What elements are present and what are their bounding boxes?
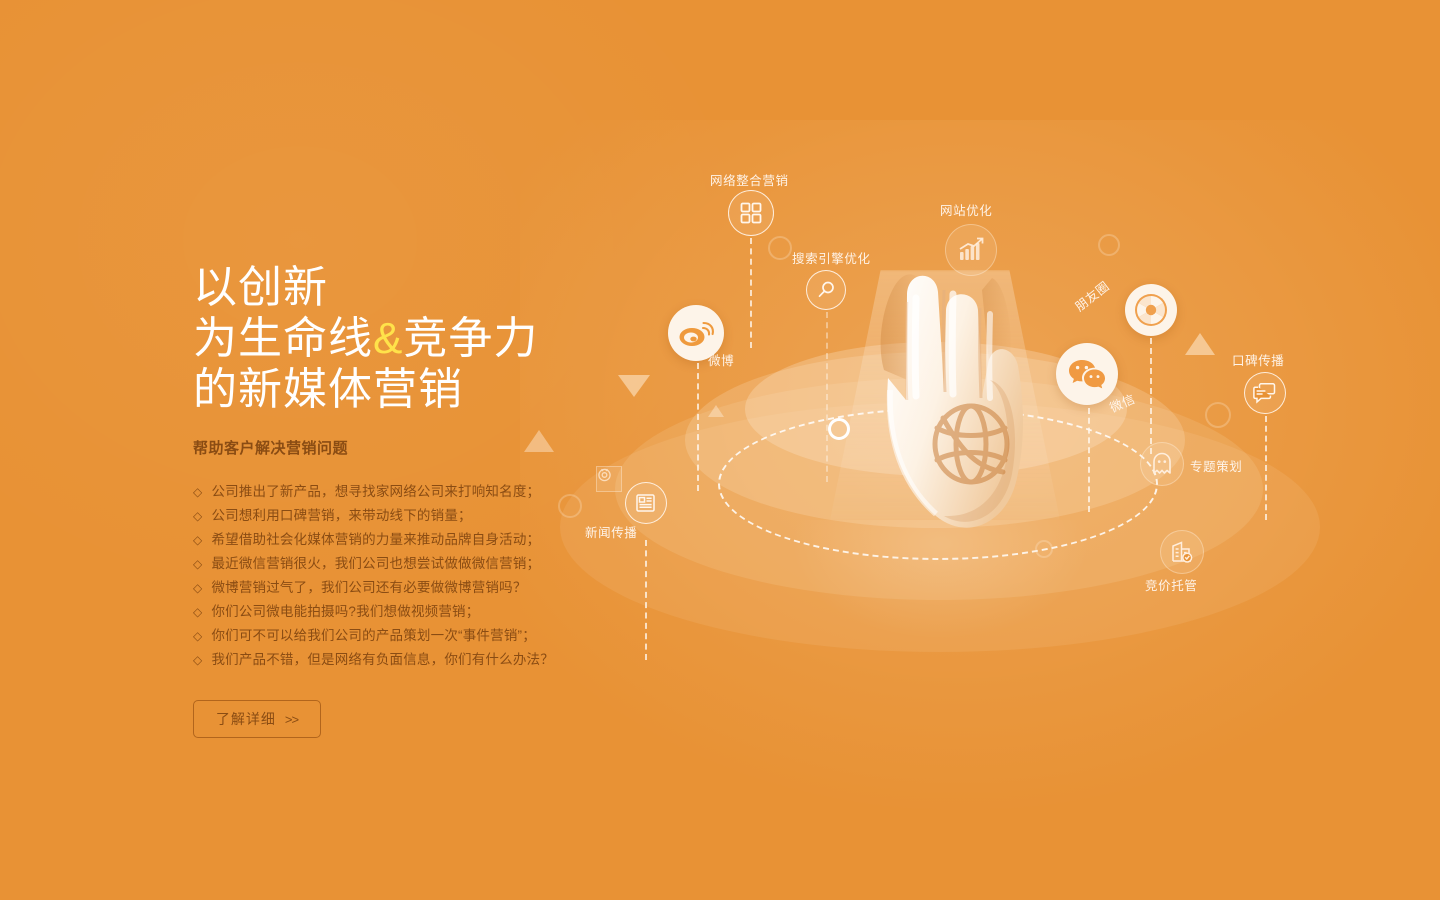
learn-more-label: 了解详细 xyxy=(216,709,276,729)
connector-line xyxy=(645,540,647,660)
connector-line xyxy=(1088,408,1090,512)
headline-ampersand: & xyxy=(373,314,403,363)
decor-triangle-down xyxy=(618,375,650,397)
diamond-bullet-icon: ◇ xyxy=(193,648,202,672)
node-label: 口碑传播 xyxy=(1232,350,1284,369)
diamond-bullet-icon: ◇ xyxy=(193,576,202,600)
decor-ring-highlight xyxy=(828,418,850,440)
decor-triangle-small xyxy=(708,405,724,417)
node-label: 网络整合营销 xyxy=(710,170,789,189)
decor-ring xyxy=(1035,540,1053,558)
decor-ring xyxy=(558,494,582,518)
list-item-label: 微博营销过气了，我们公司还有必要做微博营销吗？ xyxy=(211,576,526,600)
headline-line-2-part-a: 为生命线 xyxy=(193,314,373,363)
newspaper-icon[interactable] xyxy=(625,482,667,524)
connector-line xyxy=(826,312,828,482)
decor-triangle-up xyxy=(1185,333,1215,355)
node-label: 微博 xyxy=(708,350,734,369)
grid-squares-icon[interactable] xyxy=(728,190,774,236)
node-label: 网站优化 xyxy=(940,200,992,219)
list-item-label: 最近微信营销很火，我们公司也想尝试做做微信营销； xyxy=(211,552,540,576)
node-label: 搜索引擎优化 xyxy=(792,248,871,267)
marketing-ecosystem-illustration: 网络整合营销 搜索引擎优化 xyxy=(540,120,1360,740)
node-label: 新闻传播 xyxy=(585,522,637,541)
diamond-bullet-icon: ◇ xyxy=(193,504,202,528)
list-item-label: 公司推出了新产品，想寻找家网络公司来打响知名度； xyxy=(211,480,540,504)
magnifier-icon[interactable] xyxy=(806,270,846,310)
connector-line xyxy=(1265,416,1267,520)
node-label: 竞价托管 xyxy=(1145,575,1197,594)
connector-line xyxy=(697,363,699,491)
headline-line-2-part-b: 竞争力 xyxy=(403,314,538,363)
wechat-icon[interactable] xyxy=(1056,343,1118,405)
node-label: 朋友圈 xyxy=(1070,276,1113,315)
aperture-icon[interactable] xyxy=(1125,284,1177,336)
list-item-label: 我们产品不错，但是网络有负面信息，你们有什么办法？ xyxy=(211,648,554,672)
connector-line xyxy=(750,238,752,348)
target-icon xyxy=(596,466,622,492)
chat-bubbles-icon[interactable] xyxy=(1244,372,1286,414)
ghost-mascot-icon[interactable] xyxy=(1140,442,1184,486)
chevron-right-icon: >> xyxy=(285,712,298,727)
decor-ring xyxy=(1098,234,1120,256)
learn-more-button[interactable]: 了解详细 >> xyxy=(193,700,321,738)
hero-banner: 以创新 为生命线&竞争力 的新媒体营销 帮助客户解决营销问题 ◇公司推出了新产品… xyxy=(0,0,1440,900)
node-label: 专题策划 xyxy=(1190,456,1242,475)
diamond-bullet-icon: ◇ xyxy=(193,552,202,576)
diamond-bullet-icon: ◇ xyxy=(193,480,202,504)
bid-chart-icon[interactable] xyxy=(1160,530,1204,574)
bar-chart-arrow-icon[interactable] xyxy=(945,224,997,276)
connector-line xyxy=(1150,338,1152,454)
decor-triangle-up xyxy=(524,430,554,452)
list-item-label: 你们可不可以给我们公司的产品策划一次“事件营销”； xyxy=(211,624,536,648)
list-item-label: 你们公司微电能拍摄吗?我们想做视频营销； xyxy=(211,600,479,624)
diamond-bullet-icon: ◇ xyxy=(193,600,202,624)
list-item-label: 希望借助社会化媒体营销的力量来推动品牌自身活动； xyxy=(211,528,540,552)
decor-ring xyxy=(1205,402,1231,428)
diamond-bullet-icon: ◇ xyxy=(193,528,202,552)
globe-icon xyxy=(925,398,1017,490)
diamond-bullet-icon: ◇ xyxy=(193,624,202,648)
decor-ring xyxy=(768,236,792,260)
list-item-label: 公司想利用口碑营销，来带动线下的销量； xyxy=(211,504,471,528)
